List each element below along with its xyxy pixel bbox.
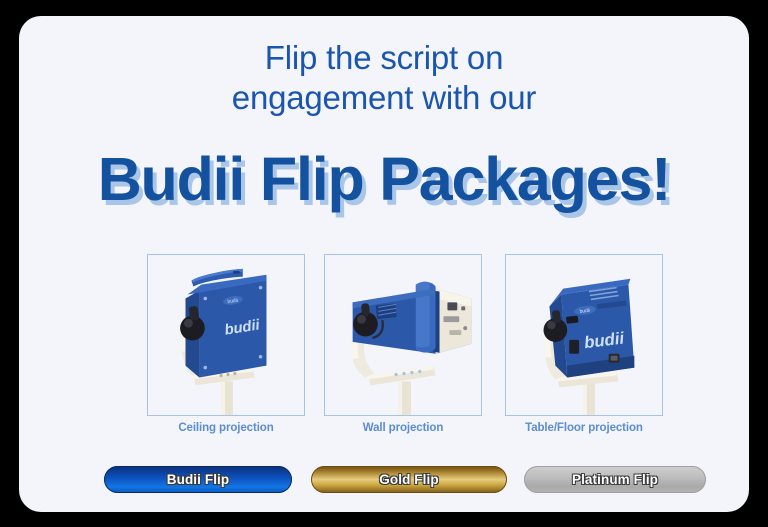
caption-wall: Wall projection — [303, 422, 503, 434]
product-image-table-floor: budii budii — [505, 254, 663, 416]
package-button-platinum-flip[interactable]: Platinum Flip — [524, 466, 706, 493]
caption-table-floor: Table/Floor projection — [484, 422, 684, 434]
promo-card: Flip the script on engagement with our B… — [19, 16, 749, 512]
page-title: Budii Flip Packages! — [19, 144, 749, 214]
headline-line-2: engagement with our — [19, 78, 749, 118]
headline: Flip the script on engagement with our — [19, 38, 749, 118]
package-button-gold-flip[interactable]: Gold Flip — [311, 466, 507, 493]
product-image-ceiling: budii budii — [147, 254, 305, 416]
caption-ceiling: Ceiling projection — [126, 422, 326, 434]
budii-projector-wall-mount-icon — [325, 255, 481, 415]
headline-line-1: Flip the script on — [19, 38, 749, 78]
package-button-budii-flip[interactable]: Budii Flip — [104, 466, 292, 493]
budii-projector-table-floor-mount-icon: budii budii — [506, 255, 662, 415]
budii-projector-ceiling-mount-icon: budii budii — [148, 255, 304, 415]
product-image-wall — [324, 254, 482, 416]
